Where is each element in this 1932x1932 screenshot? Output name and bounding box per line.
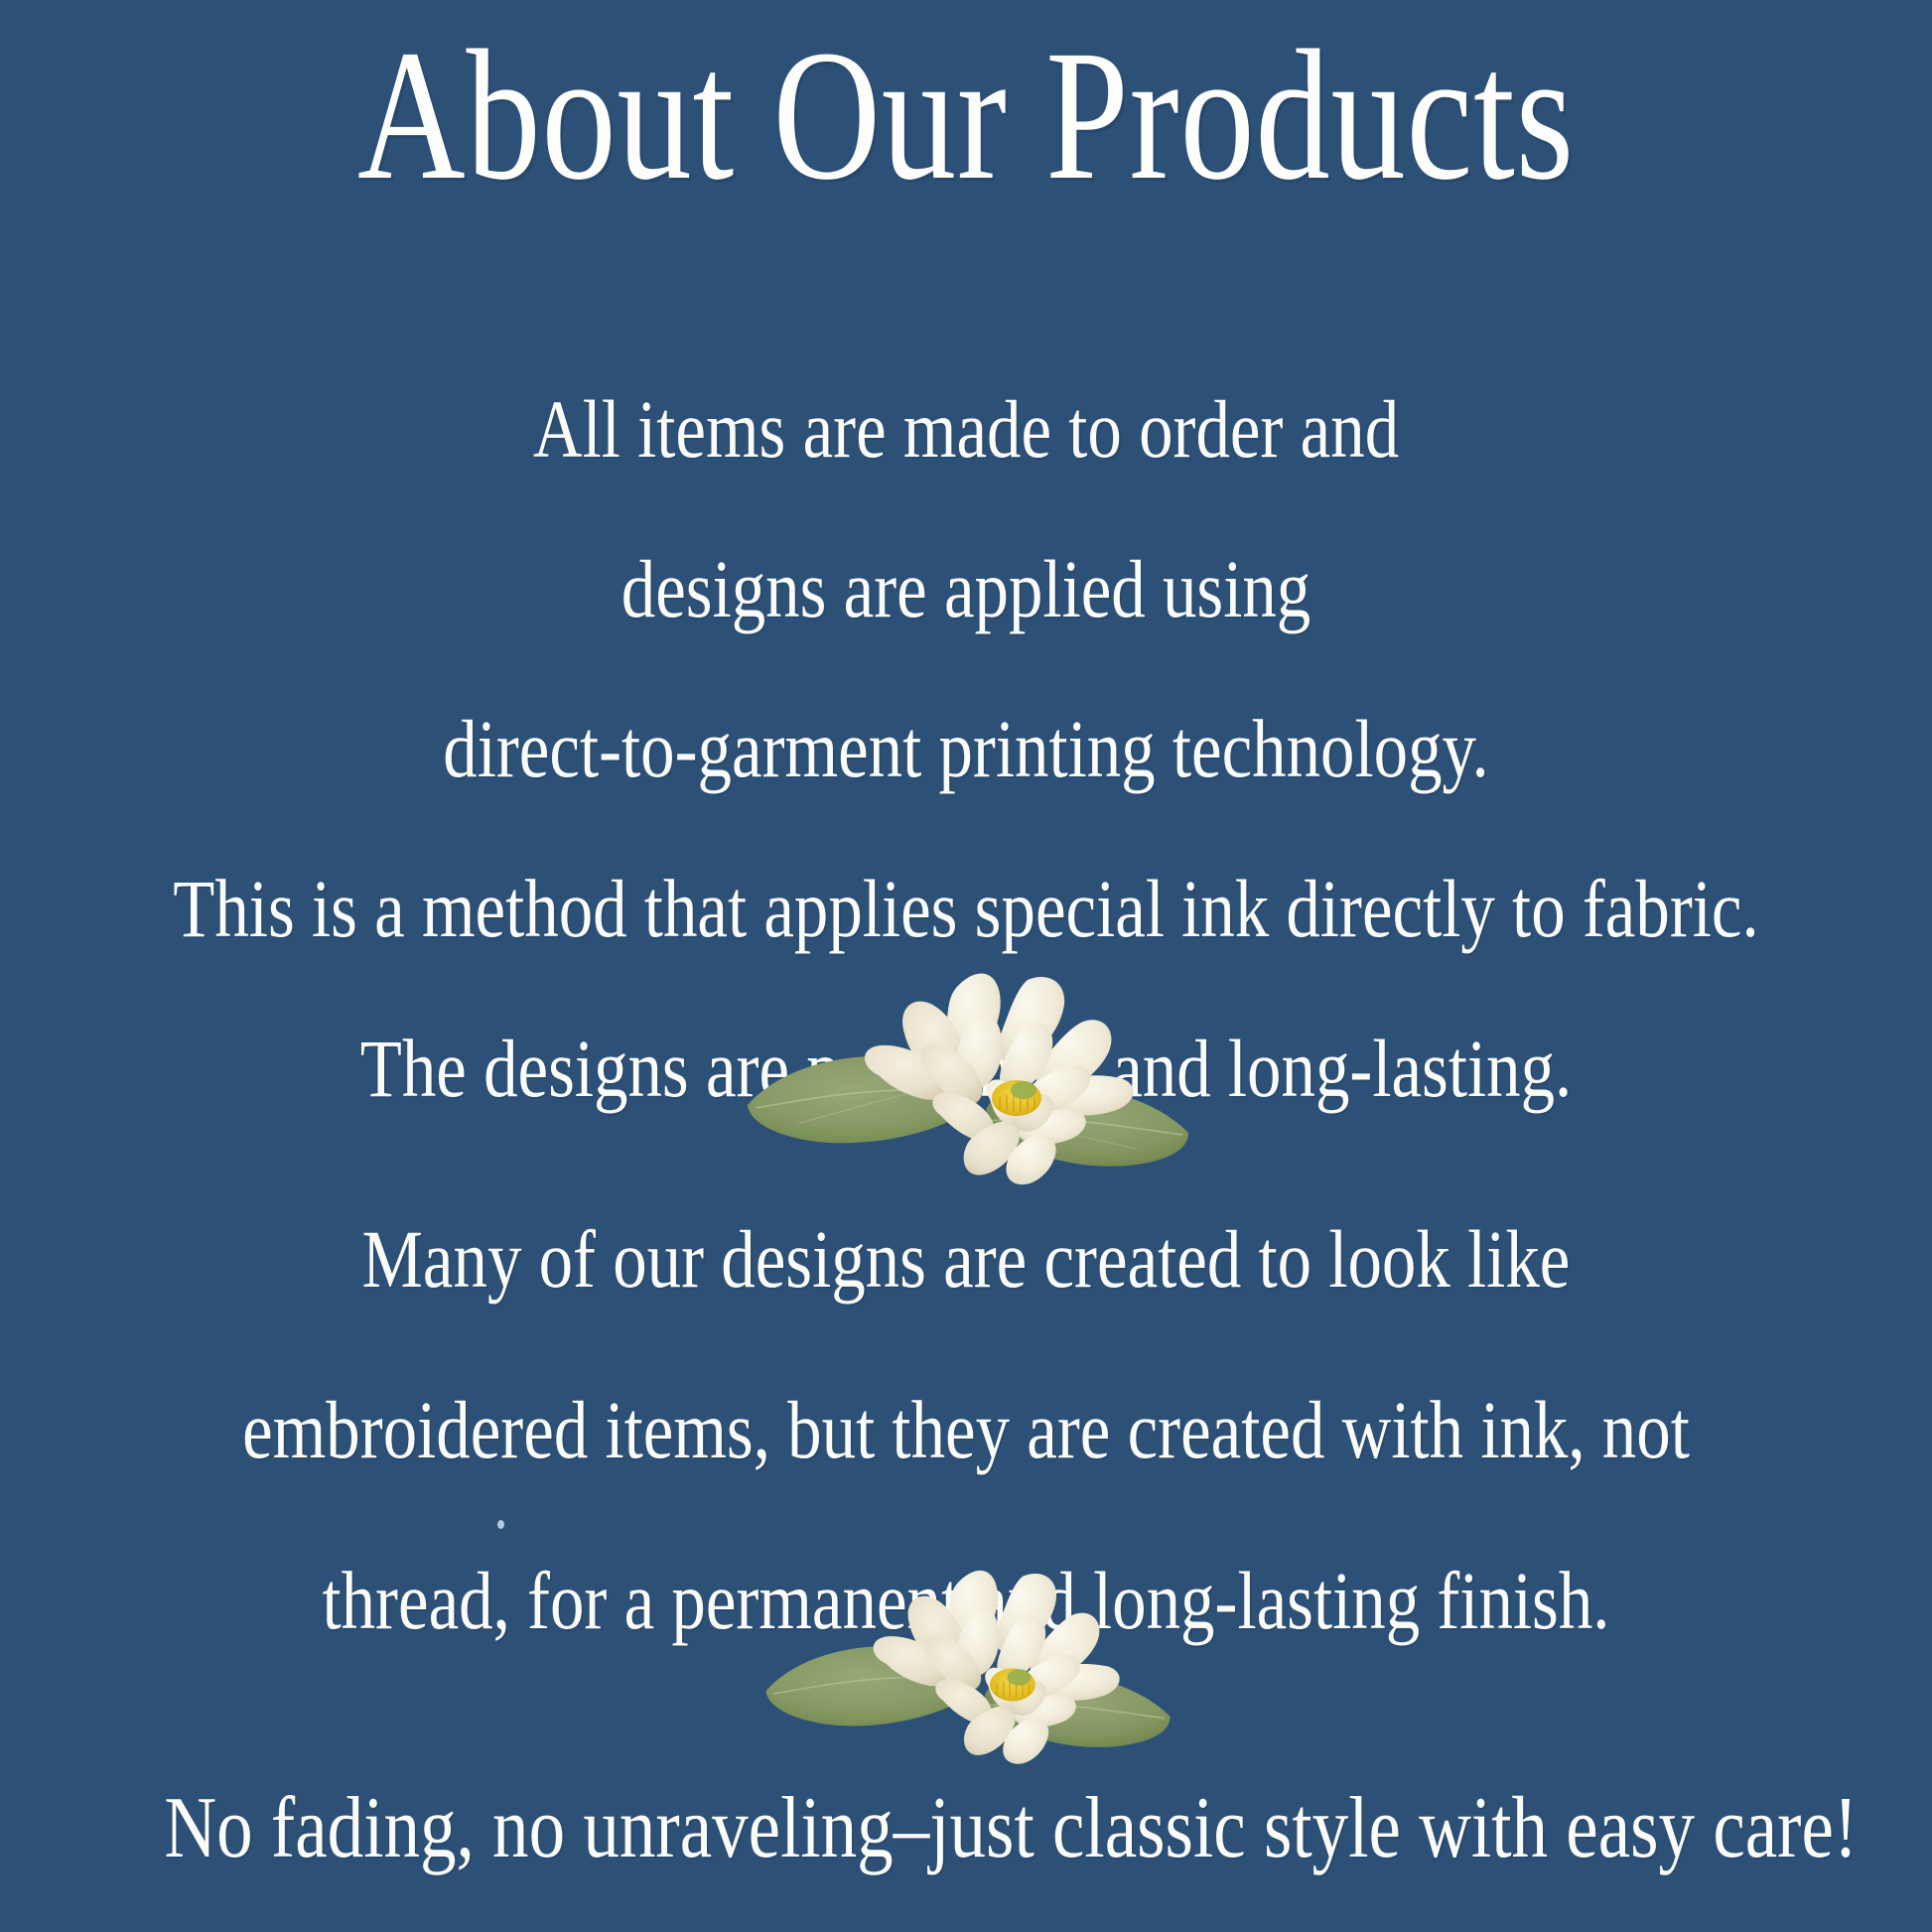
artifact-speck bbox=[497, 1520, 504, 1529]
paragraph-line: The designs are permanent and long-lasti… bbox=[164, 989, 1767, 1149]
paragraph-line: All items are made to order and bbox=[164, 349, 1767, 509]
paragraph-line: embroidered items, but they are created … bbox=[164, 1344, 1767, 1515]
paragraph-line: Many of our designs are created to look … bbox=[164, 1173, 1767, 1344]
paragraph-line: This is a method that applies special in… bbox=[164, 829, 1767, 989]
paragraph-line: designs are applied using bbox=[164, 509, 1767, 669]
page-title: About Our Products bbox=[194, 22, 1739, 208]
paragraph-line: direct-to-garment printing technology. bbox=[164, 669, 1767, 829]
designs-paragraph-block: Many of our designs are created to look … bbox=[164, 1173, 1767, 1686]
paragraph-line: No fading, no unraveling–just classic st… bbox=[164, 1769, 1767, 1888]
intro-paragraph-block: All items are made to order and designs … bbox=[164, 349, 1767, 1149]
paragraph-line: thread, for a permanent and long-lasting… bbox=[164, 1515, 1767, 1686]
about-our-products-graphic: About Our Products All items are made to… bbox=[0, 0, 1932, 1932]
closing-paragraph-block: No fading, no unraveling–just classic st… bbox=[164, 1769, 1767, 1888]
